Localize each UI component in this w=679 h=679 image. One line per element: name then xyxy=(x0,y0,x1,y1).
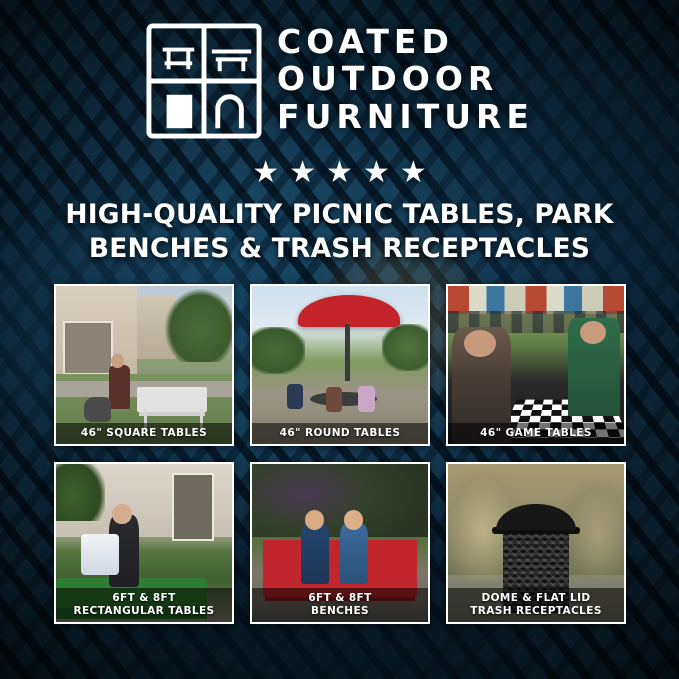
product-caption: DOME & FLAT LID TRASH RECEPTACLES xyxy=(448,588,624,622)
coated-outdoor-furniture-logo-icon xyxy=(145,22,263,140)
page-title: HIGH-QUALITY PICNIC TABLES, PARK BENCHES… xyxy=(0,198,679,266)
product-caption-line-1: 6FT & 8FT xyxy=(308,592,371,604)
product-tile-round-tables: 46" ROUND TABLES xyxy=(250,284,430,446)
product-photo-round-tables xyxy=(252,286,428,444)
product-caption: 46" SQUARE TABLES xyxy=(56,423,232,444)
rating-stars: ★ ★ ★ ★ ★ xyxy=(0,158,679,188)
product-tile-game-tables: 46" GAME TABLES xyxy=(446,284,626,446)
star-icon: ★ xyxy=(289,158,316,188)
product-poster: COATED OUTDOOR FURNITURE ★ ★ ★ ★ ★ HIGH-… xyxy=(0,0,679,679)
brand-name: COATED OUTDOOR FURNITURE xyxy=(277,24,534,139)
product-caption-line-1: 46" ROUND TABLES xyxy=(280,427,401,439)
product-caption: 46" GAME TABLES xyxy=(448,423,624,444)
star-icon: ★ xyxy=(400,158,427,188)
brand-name-line-3: FURNITURE xyxy=(277,99,534,135)
product-tile-benches: 6FT & 8FT BENCHES xyxy=(250,462,430,624)
product-caption: 6FT & 8FT BENCHES xyxy=(252,588,428,622)
headline-line-2: BENCHES & TRASH RECEPTACLES xyxy=(24,232,655,266)
product-photo-game-tables xyxy=(448,286,624,444)
product-caption-line-2: TRASH RECEPTACLES xyxy=(450,605,622,617)
headline-line-1: HIGH-QUALITY PICNIC TABLES, PARK xyxy=(65,199,613,230)
product-grid: 46" SQUARE TABLES 46" ROUND TABLES xyxy=(54,284,626,624)
brand-name-line-2: OUTDOOR xyxy=(277,61,534,97)
product-caption-line-1: 6FT & 8FT xyxy=(112,592,175,604)
product-caption-line-2: BENCHES xyxy=(254,605,426,617)
product-caption: 6FT & 8FT RECTANGULAR TABLES xyxy=(56,588,232,622)
product-caption-line-1: 46" SQUARE TABLES xyxy=(81,427,207,439)
star-icon: ★ xyxy=(363,158,390,188)
product-tile-square-tables: 46" SQUARE TABLES xyxy=(54,284,234,446)
brand-name-line-1: COATED xyxy=(277,24,534,60)
poster-content: COATED OUTDOOR FURNITURE ★ ★ ★ ★ ★ HIGH-… xyxy=(0,0,679,679)
product-caption-line-2: RECTANGULAR TABLES xyxy=(58,605,230,617)
product-tile-rectangular-tables: 6FT & 8FT RECTANGULAR TABLES xyxy=(54,462,234,624)
product-caption-line-1: 46" GAME TABLES xyxy=(480,427,592,439)
product-tile-trash-receptacles: DOME & FLAT LID TRASH RECEPTACLES xyxy=(446,462,626,624)
product-photo-square-tables xyxy=(56,286,232,444)
star-icon: ★ xyxy=(326,158,353,188)
star-icon: ★ xyxy=(252,158,279,188)
product-caption-line-1: DOME & FLAT LID xyxy=(481,592,590,604)
product-caption: 46" ROUND TABLES xyxy=(252,423,428,444)
brand-logo: COATED OUTDOOR FURNITURE xyxy=(0,22,679,140)
